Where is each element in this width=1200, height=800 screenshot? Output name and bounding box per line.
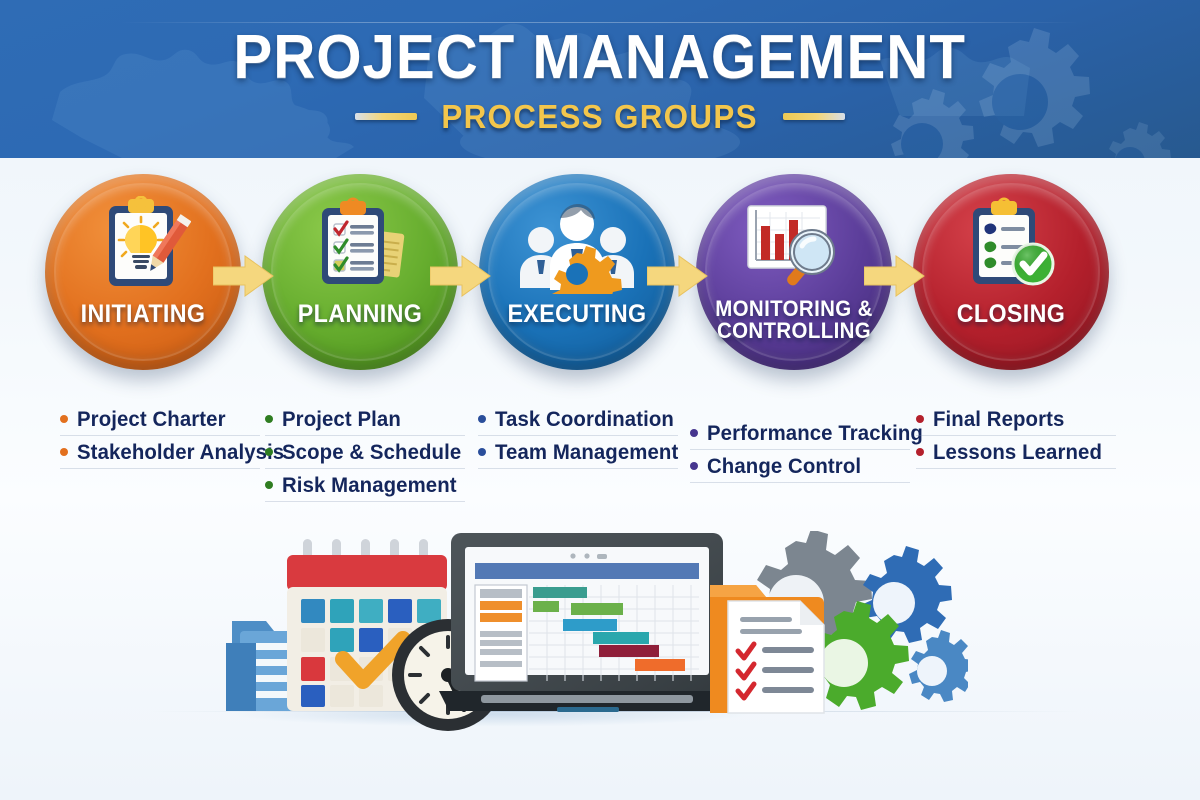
list-item-label: Scope & Schedule xyxy=(282,441,461,465)
flow-arrow-icon xyxy=(647,254,709,298)
list-item-label: Project Plan xyxy=(282,408,401,432)
deliverables-monitoring-controlling: Performance Tracking Change Control xyxy=(690,422,910,488)
process-group-monitoring-controlling[interactable]: MONITORING & CONTROLLING xyxy=(696,174,892,370)
subtitle-dash-right xyxy=(783,113,845,120)
list-item: Task Coordination xyxy=(478,408,678,436)
clipboard-lightbulb-pencil-icon xyxy=(45,194,241,298)
process-group-label: MONITORING & CONTROLLING xyxy=(688,298,900,343)
list-item: Project Charter xyxy=(60,408,260,436)
deliverables-planning: Project Plan Scope & Schedule Risk Manag… xyxy=(265,408,465,507)
laptop-gantt-chart-icon xyxy=(437,531,737,721)
bullet-dot-icon xyxy=(690,429,698,437)
flow-arrow-icon xyxy=(864,254,926,298)
process-group-initiating[interactable]: INITIATING xyxy=(45,174,241,370)
process-group-label: CLOSING xyxy=(905,302,1117,328)
deliverables-columns: Project Charter Stakeholder Analysis Pro… xyxy=(0,400,1200,510)
list-item: Change Control xyxy=(690,455,910,483)
list-item: Scope & Schedule xyxy=(265,441,465,469)
bullet-dot-icon xyxy=(60,448,68,456)
process-group-label: EXECUTING xyxy=(471,302,683,328)
process-group-row: INITIATING xyxy=(0,168,1200,383)
header-banner: PROJECT MANAGEMENT PROCESS GROUPS xyxy=(0,0,1200,158)
list-item-label: Team Management xyxy=(495,441,678,465)
list-item-label: Task Coordination xyxy=(495,408,674,432)
bottom-illustration xyxy=(0,505,1200,800)
list-item: Project Plan xyxy=(265,408,465,436)
process-group-label: PLANNING xyxy=(254,302,466,328)
list-item-label: Risk Management xyxy=(282,474,457,498)
list-item: Stakeholder Analysis xyxy=(60,441,260,469)
flow-arrow-icon xyxy=(430,254,492,298)
subtitle-dash-left xyxy=(355,113,417,120)
bullet-dot-icon xyxy=(60,415,68,423)
list-item-label: Performance Tracking xyxy=(707,422,923,446)
bullet-dot-icon xyxy=(916,448,924,456)
list-item: Performance Tracking xyxy=(690,422,910,450)
bullet-dot-icon xyxy=(265,481,273,489)
folder-checklist-icon xyxy=(706,577,840,719)
page-title: PROJECT MANAGEMENT xyxy=(234,28,967,88)
deliverables-initiating: Project Charter Stakeholder Analysis xyxy=(60,408,260,474)
process-group-executing[interactable]: EXECUTING xyxy=(479,174,675,370)
list-item-label: Change Control xyxy=(707,455,861,479)
infographic-canvas: PROJECT MANAGEMENT PROCESS GROUPS xyxy=(0,0,1200,800)
process-group-closing[interactable]: CLOSING xyxy=(913,174,1109,370)
bullet-dot-icon xyxy=(265,415,273,423)
process-group-label: INITIATING xyxy=(37,302,249,328)
bullet-dot-icon xyxy=(478,448,486,456)
list-item-label: Lessons Learned xyxy=(933,441,1102,465)
list-item: Risk Management xyxy=(265,474,465,502)
list-item: Team Management xyxy=(478,441,678,469)
clipboard-checkmark-badge-icon xyxy=(913,194,1109,298)
bullet-dot-icon xyxy=(265,448,273,456)
list-item-label: Final Reports xyxy=(933,408,1064,432)
deliverables-executing: Task Coordination Team Management xyxy=(478,408,678,474)
bullet-dot-icon xyxy=(916,415,924,423)
bullet-dot-icon xyxy=(478,415,486,423)
list-item: Lessons Learned xyxy=(916,441,1116,469)
list-item-label: Stakeholder Analysis xyxy=(77,441,284,465)
process-group-planning[interactable]: PLANNING xyxy=(262,174,458,370)
bar-chart-magnifier-icon xyxy=(696,194,892,298)
subtitle-row: PROCESS GROUPS xyxy=(355,98,844,136)
list-item: Final Reports xyxy=(916,408,1116,436)
flow-arrow-icon xyxy=(213,254,275,298)
team-gear-icon xyxy=(479,194,675,298)
bullet-dot-icon xyxy=(690,462,698,470)
list-item-label: Project Charter xyxy=(77,408,226,432)
deliverables-closing: Final Reports Lessons Learned xyxy=(916,408,1116,474)
page-subtitle: PROCESS GROUPS xyxy=(442,98,759,136)
clipboard-checklist-notes-icon xyxy=(262,194,458,298)
